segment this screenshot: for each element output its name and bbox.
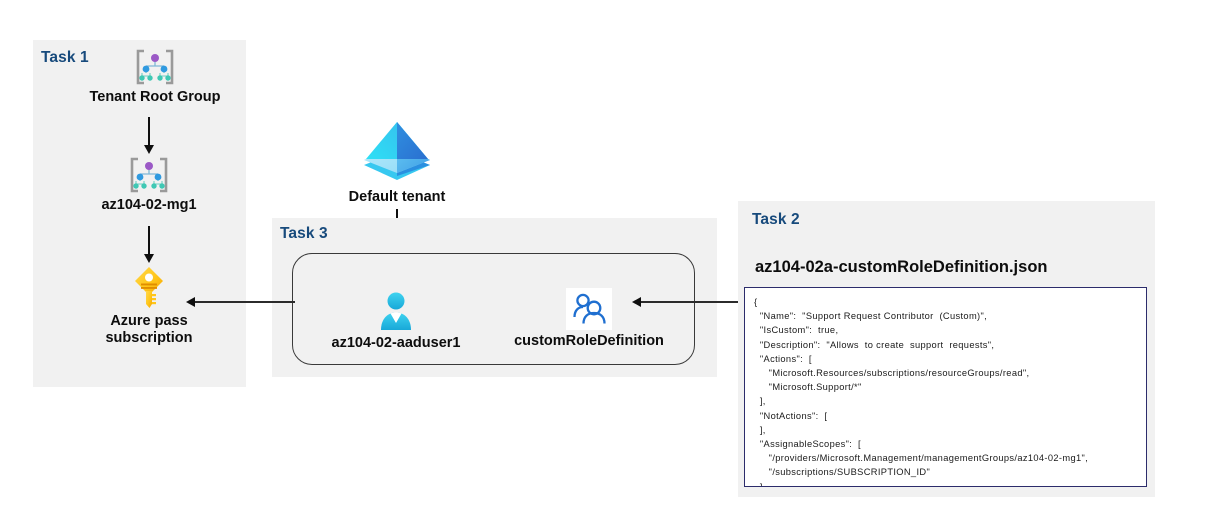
json-content-box[interactable]: { "Name": "Support Request Contributor (…	[744, 287, 1147, 487]
node-default-tenant[interactable]: Default tenant	[334, 118, 460, 206]
azure-ad-pyramid-icon	[358, 118, 436, 186]
node-label-azure-pass-subscription: Azure pass subscription	[79, 313, 219, 347]
node-label-management-group: az104-02-mg1	[101, 197, 196, 214]
task2-filename: az104-02a-customRoleDefinition.json	[755, 258, 1047, 277]
node-aad-user[interactable]: az104-02-aaduser1	[313, 290, 479, 352]
management-group-icon	[127, 156, 171, 194]
diagram-canvas: Task 1 Tenant Root Group	[0, 0, 1212, 522]
connector-roledefinition-to-subscription-arrowhead	[186, 297, 195, 307]
node-label-default-tenant: Default tenant	[349, 189, 446, 206]
connector-json-to-roledefinition	[641, 301, 739, 303]
connector-roledefinition-to-subscription	[195, 301, 295, 303]
node-azure-pass-subscription[interactable]: Azure pass subscription	[79, 266, 219, 347]
user-icon	[375, 290, 417, 332]
node-label-custom-role-definition: customRoleDefinition	[514, 333, 664, 350]
node-custom-role-definition[interactable]: customRoleDefinition	[501, 288, 677, 350]
connector-tenant-root-to-mg1	[148, 117, 150, 147]
connector-mg1-to-subscription	[148, 226, 150, 256]
node-tenant-root-group[interactable]: Tenant Root Group	[70, 48, 240, 106]
connector-mg1-to-subscription-arrowhead	[144, 254, 154, 263]
connector-tenant-root-to-mg1-arrowhead	[144, 145, 154, 154]
role-definition-icon	[566, 288, 612, 330]
node-label-aad-user: az104-02-aaduser1	[332, 335, 461, 352]
connector-json-to-roledefinition-arrowhead	[632, 297, 641, 307]
task3-label: Task 3	[280, 225, 328, 243]
key-icon	[129, 266, 169, 310]
task2-label: Task 2	[752, 211, 800, 229]
node-management-group[interactable]: az104-02-mg1	[78, 156, 220, 214]
json-content: { "Name": "Support Request Contributor (…	[754, 295, 1137, 487]
node-label-tenant-root-group: Tenant Root Group	[89, 89, 220, 106]
management-group-icon	[133, 48, 177, 86]
